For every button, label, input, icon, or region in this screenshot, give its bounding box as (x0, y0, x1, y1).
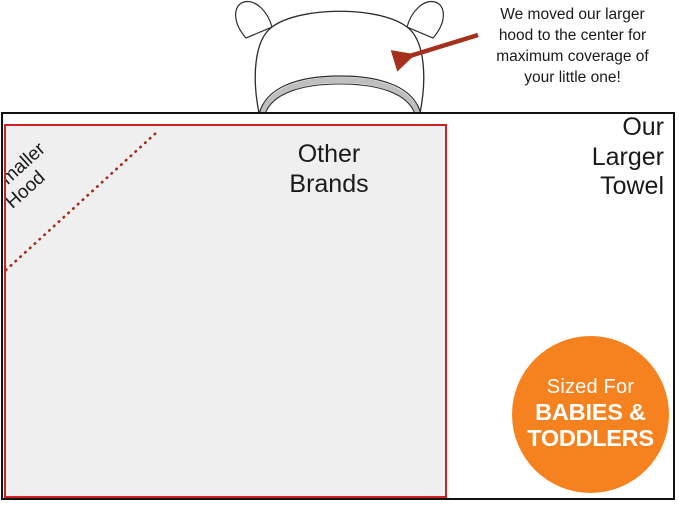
other-brands-area: Smaller Hood Other Brands (4, 124, 447, 498)
product-comparison-infographic: We moved our larger hood to the center f… (0, 0, 679, 506)
annotation-callout-text: We moved our larger hood to the center f… (470, 5, 675, 89)
our-larger-towel-label: Our Larger Towel (490, 113, 664, 202)
other-brands-label: Other Brands (244, 140, 414, 199)
smaller-hood-label: Smaller Hood (4, 124, 120, 213)
badge-line-toddlers: TODDLERS (527, 426, 653, 452)
badge-line-babies: BABIES & (535, 400, 646, 426)
badge-line-sized-for: Sized For (547, 377, 634, 398)
sized-for-badge: Sized For BABIES & TODDLERS (512, 336, 669, 493)
